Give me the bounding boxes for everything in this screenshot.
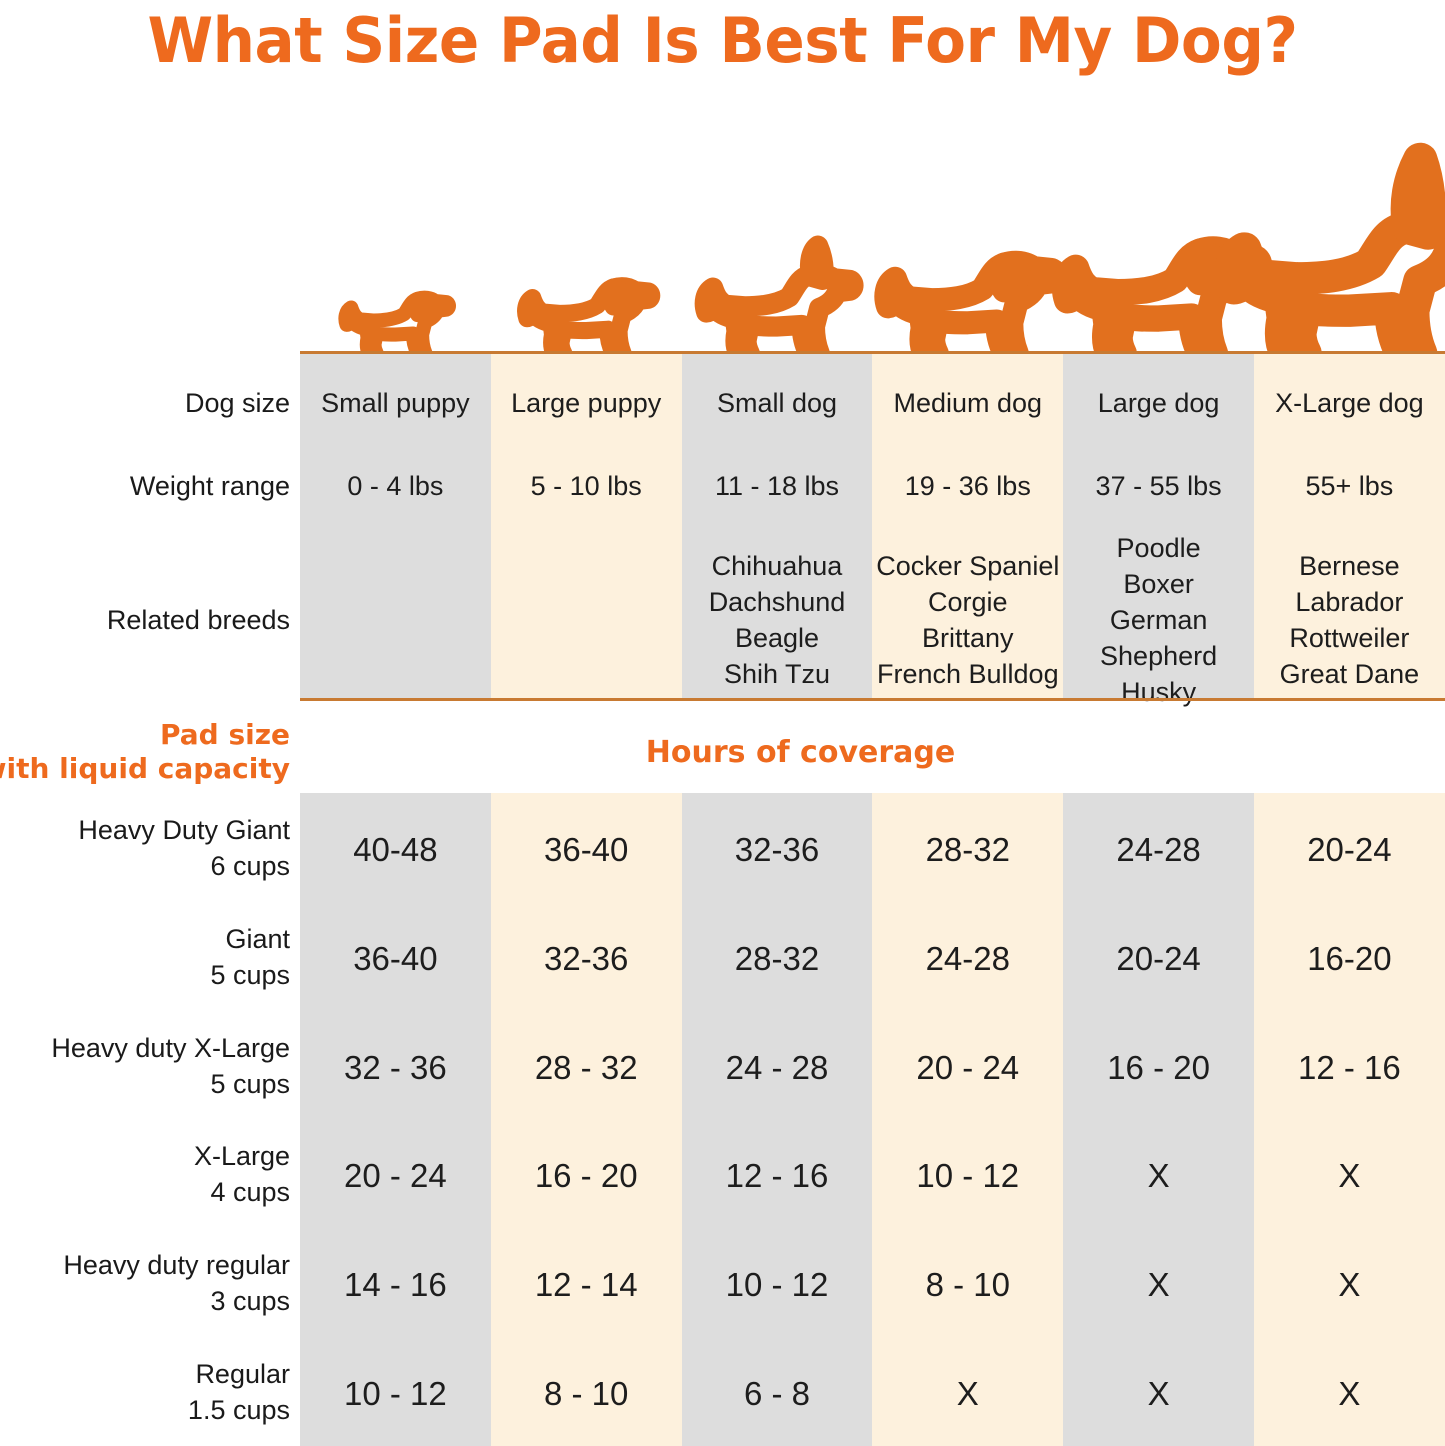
cell-weight-range: 0 - 4 lbs — [300, 468, 491, 504]
infographic-root: What Size Pad Is Best For My Dog? Dog si… — [0, 0, 1445, 1446]
cell-not-available: X — [1254, 1155, 1445, 1197]
breed-name: Boxer — [1063, 566, 1254, 602]
dog-size-table: Dog sizeSmall puppyLarge puppySmall dogM… — [0, 354, 1445, 700]
breed-name: Shepherd — [1063, 638, 1254, 674]
breed-name: Poodle — [1063, 530, 1254, 566]
pad-capacity: 1.5 cups — [188, 1392, 290, 1428]
breed-name: Shih Tzu — [682, 656, 873, 692]
cell-not-available: X — [872, 1373, 1063, 1415]
cell-hours: 12 - 16 — [1254, 1047, 1445, 1089]
cell-dog-size: X-Large dog — [1254, 385, 1445, 421]
pad-name: Regular — [188, 1356, 290, 1392]
breed-name: German — [1063, 602, 1254, 638]
pad-capacity: 6 cups — [78, 848, 290, 884]
cell-hours: 20-24 — [1254, 829, 1445, 871]
cell-hours: 32-36 — [682, 829, 873, 871]
cell-dog-size: Small dog — [682, 385, 873, 421]
pad-capacity: 5 cups — [51, 1066, 290, 1102]
pad-row-label: Heavy duty regular3 cups — [63, 1247, 290, 1319]
column-background — [682, 793, 873, 1446]
cell-hours: 8 - 10 — [491, 1373, 682, 1415]
cell-not-available: X — [1254, 1264, 1445, 1306]
breed-name: French Bulldog — [872, 656, 1063, 692]
cell-hours: 12 - 14 — [491, 1264, 682, 1306]
pad-name: Heavy duty regular — [63, 1247, 290, 1283]
cell-not-available: X — [1254, 1373, 1445, 1415]
pad-name: X-Large — [194, 1138, 290, 1174]
dog-silhouette-xlarge-dog — [1254, 150, 1445, 353]
cell-hours: 32-36 — [491, 938, 682, 980]
cell-related-breeds: ChihuahuaDachshundBeagleShih Tzu — [682, 548, 873, 692]
cell-hours: 24-28 — [872, 938, 1063, 980]
breed-name: Brittany — [872, 620, 1063, 656]
breed-name: Labrador — [1254, 584, 1445, 620]
cell-hours: 12 - 16 — [682, 1155, 873, 1197]
pad-name: Giant — [210, 921, 290, 957]
pad-coverage-table: Heavy Duty Giant6 cups40-4836-4032-3628-… — [0, 793, 1445, 1446]
table-divider-rule — [300, 698, 1445, 701]
cell-hours: 16-20 — [1254, 938, 1445, 980]
breed-name: Great Dane — [1254, 656, 1445, 692]
cell-related-breeds: BerneseLabradorRottweilerGreat Dane — [1254, 548, 1445, 692]
dog-silhouette-row — [300, 150, 1445, 353]
cell-weight-range: 37 - 55 lbs — [1063, 468, 1254, 504]
cell-hours: 10 - 12 — [682, 1264, 873, 1306]
cell-hours: 20 - 24 — [300, 1155, 491, 1197]
cell-dog-size: Large puppy — [491, 385, 682, 421]
dog-silhouette-small-puppy — [300, 150, 491, 353]
cell-weight-range: 5 - 10 lbs — [491, 468, 682, 504]
breed-name: Chihuahua — [682, 548, 873, 584]
breed-name: Dachshund — [682, 584, 873, 620]
pad-row-label: X-Large4 cups — [194, 1138, 290, 1210]
page-title: What Size Pad Is Best For My Dog? — [29, 4, 1416, 77]
pad-row-label: Heavy Duty Giant6 cups — [78, 812, 290, 884]
cell-not-available: X — [1063, 1155, 1254, 1197]
column-background — [872, 793, 1063, 1446]
cell-hours: 14 - 16 — [300, 1264, 491, 1306]
cell-dog-size: Medium dog — [872, 385, 1063, 421]
cell-hours: 36-40 — [300, 938, 491, 980]
breed-name: Husky — [1063, 674, 1254, 710]
cell-hours: 40-48 — [300, 829, 491, 871]
breed-name: Rottweiler — [1254, 620, 1445, 656]
cell-hours: 16 - 20 — [491, 1155, 682, 1197]
cell-hours: 24 - 28 — [682, 1047, 873, 1089]
cell-hours: 6 - 8 — [682, 1373, 873, 1415]
cell-not-available: X — [1063, 1264, 1254, 1306]
cell-hours: 28 - 32 — [491, 1047, 682, 1089]
cell-weight-range: 11 - 18 lbs — [682, 468, 873, 504]
pad-name: Heavy duty X-Large — [51, 1030, 290, 1066]
pad-row-label: Regular1.5 cups — [188, 1356, 290, 1428]
dog-silhouette-medium-dog — [872, 150, 1063, 353]
breed-name: Bernese — [1254, 548, 1445, 584]
pad-capacity: 4 cups — [194, 1174, 290, 1210]
cell-hours: 24-28 — [1063, 829, 1254, 871]
column-background — [300, 793, 491, 1446]
breed-name: Corgie — [872, 584, 1063, 620]
cell-not-available: X — [1063, 1373, 1254, 1415]
cell-hours: 28-32 — [872, 829, 1063, 871]
cell-hours: 8 - 10 — [872, 1264, 1063, 1306]
column-background — [491, 793, 682, 1446]
cell-hours: 32 - 36 — [300, 1047, 491, 1089]
cell-hours: 10 - 12 — [872, 1155, 1063, 1197]
column-background — [1063, 793, 1254, 1446]
row-label-dog-size: Dog size — [185, 385, 290, 421]
dog-silhouette-large-puppy — [491, 150, 682, 353]
cell-hours: 10 - 12 — [300, 1373, 491, 1415]
cell-related-breeds: PoodleBoxerGermanShepherdHusky — [1063, 530, 1254, 710]
cell-hours: 20-24 — [1063, 938, 1254, 980]
cell-dog-size: Large dog — [1063, 385, 1254, 421]
pad-capacity: 5 cups — [210, 957, 290, 993]
pad-capacity: 3 cups — [63, 1283, 290, 1319]
cell-related-breeds: Cocker SpanielCorgieBrittanyFrench Bulld… — [872, 548, 1063, 692]
cell-hours: 28-32 — [682, 938, 873, 980]
hours-of-coverage-heading: Hours of coverage — [228, 735, 1373, 770]
pad-name: Heavy Duty Giant — [78, 812, 290, 848]
pad-row-label: Giant5 cups — [210, 921, 290, 993]
pad-row-label: Heavy duty X-Large5 cups — [51, 1030, 290, 1102]
row-label-related-breeds: Related breeds — [107, 602, 290, 638]
cell-weight-range: 19 - 36 lbs — [872, 468, 1063, 504]
cell-dog-size: Small puppy — [300, 385, 491, 421]
cell-hours: 16 - 20 — [1063, 1047, 1254, 1089]
cell-weight-range: 55+ lbs — [1254, 468, 1445, 504]
row-label-weight-range: Weight range — [130, 468, 290, 504]
breed-name: Cocker Spaniel — [872, 548, 1063, 584]
column-background — [1254, 793, 1445, 1446]
dog-silhouette-small-dog — [682, 150, 873, 353]
cell-hours: 36-40 — [491, 829, 682, 871]
cell-hours: 20 - 24 — [872, 1047, 1063, 1089]
breed-name: Beagle — [682, 620, 873, 656]
